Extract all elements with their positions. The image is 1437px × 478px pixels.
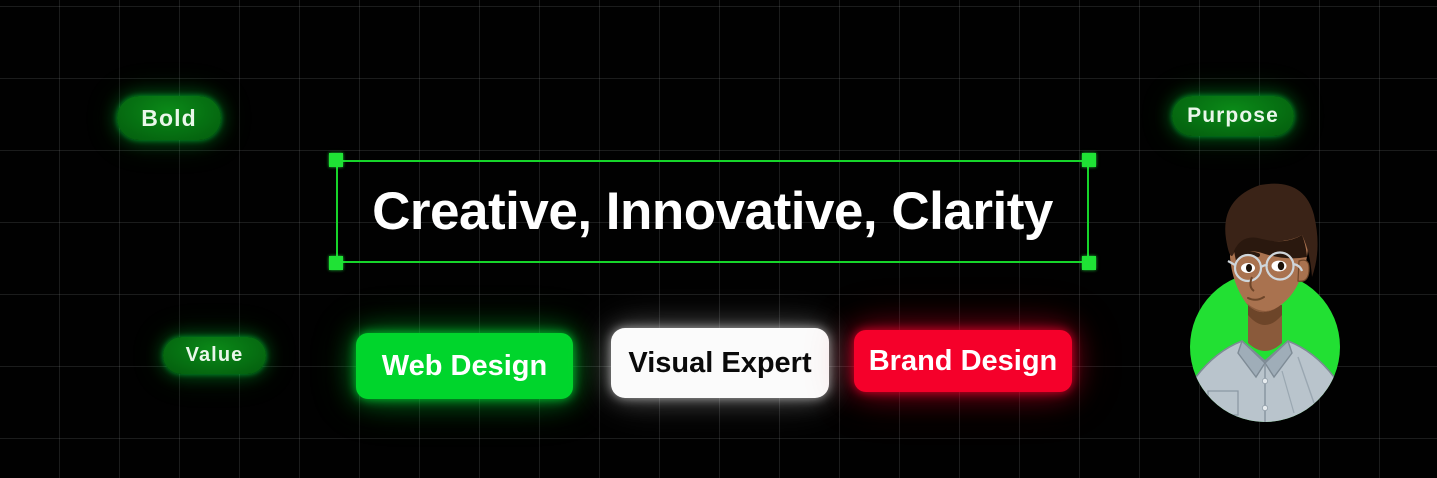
- brand-design-button-label: Brand Design: [869, 345, 1058, 378]
- tag-pill-bold[interactable]: Bold: [117, 96, 221, 140]
- resize-handle-top-right[interactable]: [1082, 153, 1096, 167]
- web-design-button[interactable]: Web Design: [356, 333, 573, 399]
- web-design-button-label: Web Design: [382, 350, 547, 383]
- page-title-text: Creative, Innovative, Clarity: [372, 181, 1053, 242]
- tag-pill-value[interactable]: Value: [163, 337, 266, 374]
- brand-design-button[interactable]: Brand Design: [854, 330, 1072, 392]
- resize-handle-bottom-left[interactable]: [329, 256, 343, 270]
- resize-handle-bottom-right[interactable]: [1082, 256, 1096, 270]
- avatar-illustration: [1186, 165, 1344, 423]
- design-canvas: Bold Purpose Value Creative, Innovative,…: [0, 0, 1437, 478]
- visual-expert-button-label: Visual Expert: [628, 347, 811, 380]
- tag-pill-purpose[interactable]: Purpose: [1172, 96, 1294, 136]
- resize-handle-top-left[interactable]: [329, 153, 343, 167]
- page-title[interactable]: Creative, Innovative, Clarity: [336, 160, 1089, 263]
- visual-expert-button[interactable]: Visual Expert: [611, 328, 829, 398]
- tag-pill-purpose-label: Purpose: [1187, 104, 1279, 128]
- tag-pill-value-label: Value: [186, 344, 244, 367]
- avatar: [1186, 165, 1344, 423]
- tag-pill-bold-label: Bold: [141, 105, 197, 132]
